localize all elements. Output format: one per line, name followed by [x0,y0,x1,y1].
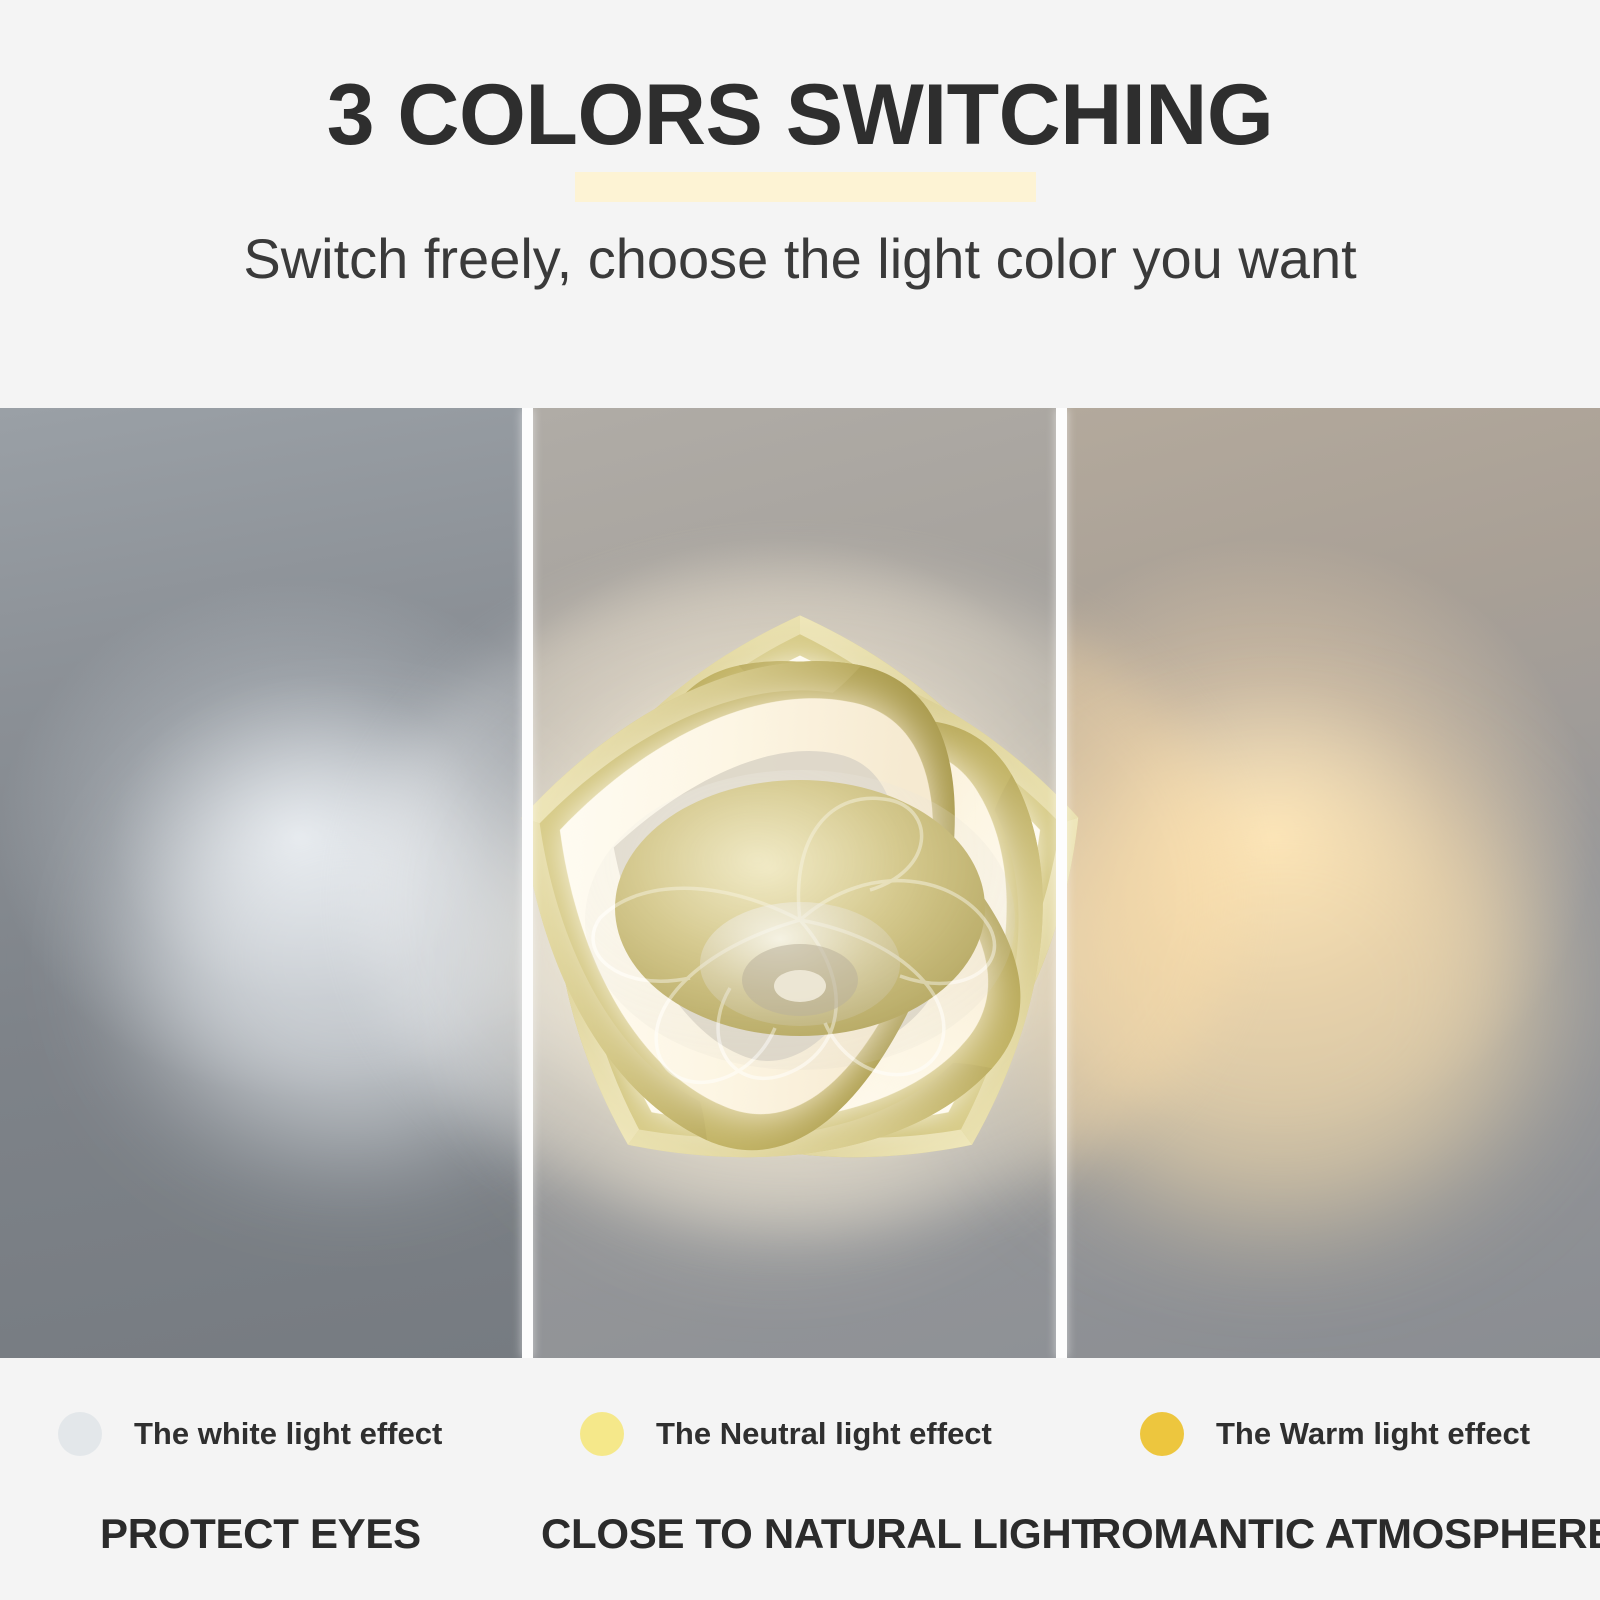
header-section: 3 COLORS SWITCHING Switch freely, choose… [0,0,1600,408]
legend-dots-row: The white light effect The Neutral light… [0,1412,1600,1474]
legend-section: The white light effect The Neutral light… [0,1358,1600,1600]
legend-item-warm: The Warm light effect [1140,1412,1530,1456]
page-title-wrap: 3 COLORS SWITCHING [0,72,1600,158]
product-feature-page: 3 COLORS SWITCHING Switch freely, choose… [0,0,1600,1600]
legend-captions-row: PROTECT EYES CLOSE TO NATURAL LIGHT ROMA… [0,1510,1600,1570]
panel-divider-2 [1056,408,1067,1358]
panel-divider-1 [522,408,533,1358]
legend-label-neutral: The Neutral light effect [656,1416,992,1452]
legend-item-white: The white light effect [58,1412,442,1456]
page-title-text: 3 COLORS SWITCHING [327,67,1274,163]
caption-romantic-atmosphere: ROMANTIC ATMOSPHERE [1091,1510,1600,1558]
ceiling-fan-light-fixture [0,408,1600,1358]
warm-light-dot [1140,1412,1184,1456]
legend-label-warm: The Warm light effect [1216,1416,1530,1452]
legend-item-neutral: The Neutral light effect [580,1412,992,1456]
page-subtitle: Switch freely, choose the light color yo… [0,228,1600,290]
product-photo [0,408,1600,1358]
white-light-dot [58,1412,102,1456]
caption-natural-light: CLOSE TO NATURAL LIGHT [541,1510,1097,1558]
page-title: 3 COLORS SWITCHING [327,72,1274,158]
legend-label-white: The white light effect [134,1416,442,1452]
title-highlight-bar [575,172,1036,202]
caption-protect-eyes: PROTECT EYES [100,1510,421,1558]
neutral-light-dot [580,1412,624,1456]
